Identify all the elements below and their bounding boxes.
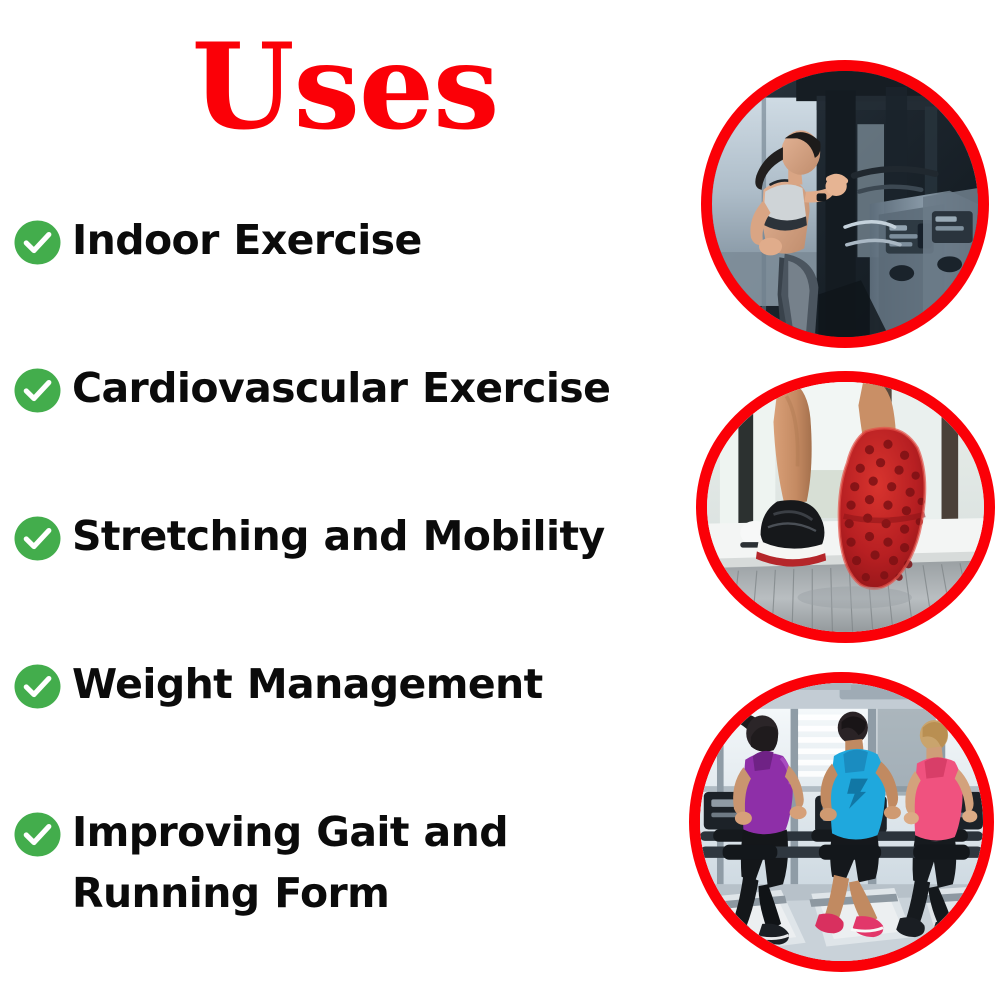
list-item-label: Indoor Exercise: [72, 206, 690, 271]
photo-three-people-treadmills-image: [700, 683, 983, 961]
list-item: Improving Gait and Running Form: [14, 798, 690, 923]
page-title: Uses: [0, 28, 690, 146]
uses-infographic-poster: Uses Indoor Exercise Cardiovascular Exer…: [0, 0, 1000, 1000]
check-circle-icon: [14, 220, 61, 265]
list-item-label: Stretching and Mobility: [72, 502, 690, 567]
photo-running-shoe-sole-image: [707, 382, 984, 632]
check-circle-icon: [14, 516, 61, 561]
photo-three-people-treadmills: [689, 672, 994, 972]
check-circle-icon: [14, 664, 61, 709]
photo-woman-on-treadmill: [701, 60, 989, 348]
list-item: Cardiovascular Exercise: [14, 354, 690, 452]
photo-running-shoe-sole: [696, 371, 995, 643]
list-item-label: Cardiovascular Exercise: [72, 354, 690, 419]
check-circle-icon: [14, 368, 61, 413]
photo-woman-on-treadmill-image: [712, 71, 978, 337]
list-item: Stretching and Mobility: [14, 502, 690, 600]
list-item: Indoor Exercise: [14, 206, 690, 304]
uses-list: Indoor Exercise Cardiovascular Exercise …: [14, 206, 690, 923]
list-item-label: Weight Management: [72, 650, 690, 715]
list-item: Weight Management: [14, 650, 690, 748]
check-circle-icon: [14, 812, 61, 857]
list-item-label: Improving Gait and Running Form: [72, 798, 690, 923]
